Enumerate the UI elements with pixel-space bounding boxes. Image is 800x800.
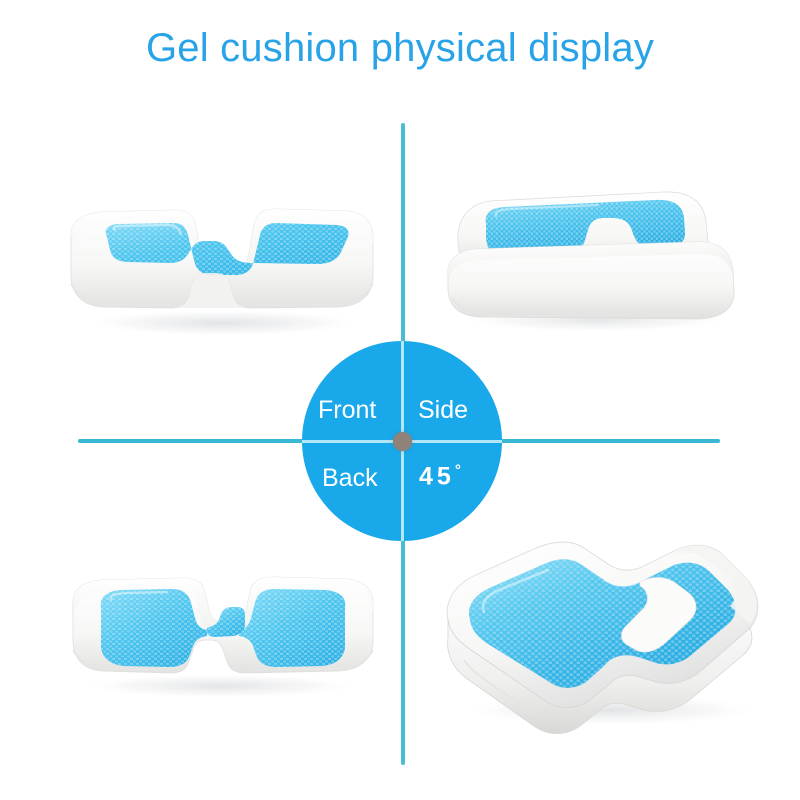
hub-label-back: Back (322, 464, 378, 493)
hub-label-angle: 45° (419, 462, 461, 491)
hub-center-dot (393, 432, 412, 451)
degree-symbol-icon: ° (455, 462, 461, 479)
product-view-front (55, 180, 385, 340)
hub-label-angle-value: 45 (419, 462, 455, 490)
product-display-canvas: Gel cushion physical display (0, 0, 800, 800)
product-view-angle (440, 520, 770, 735)
drop-shadow (81, 674, 361, 698)
hub-label-side: Side (418, 396, 468, 425)
product-view-back (55, 540, 385, 700)
hub-label-front: Front (318, 396, 376, 425)
page-title: Gel cushion physical display (0, 26, 800, 71)
product-view-side (428, 180, 758, 335)
drop-shadow (83, 310, 363, 336)
